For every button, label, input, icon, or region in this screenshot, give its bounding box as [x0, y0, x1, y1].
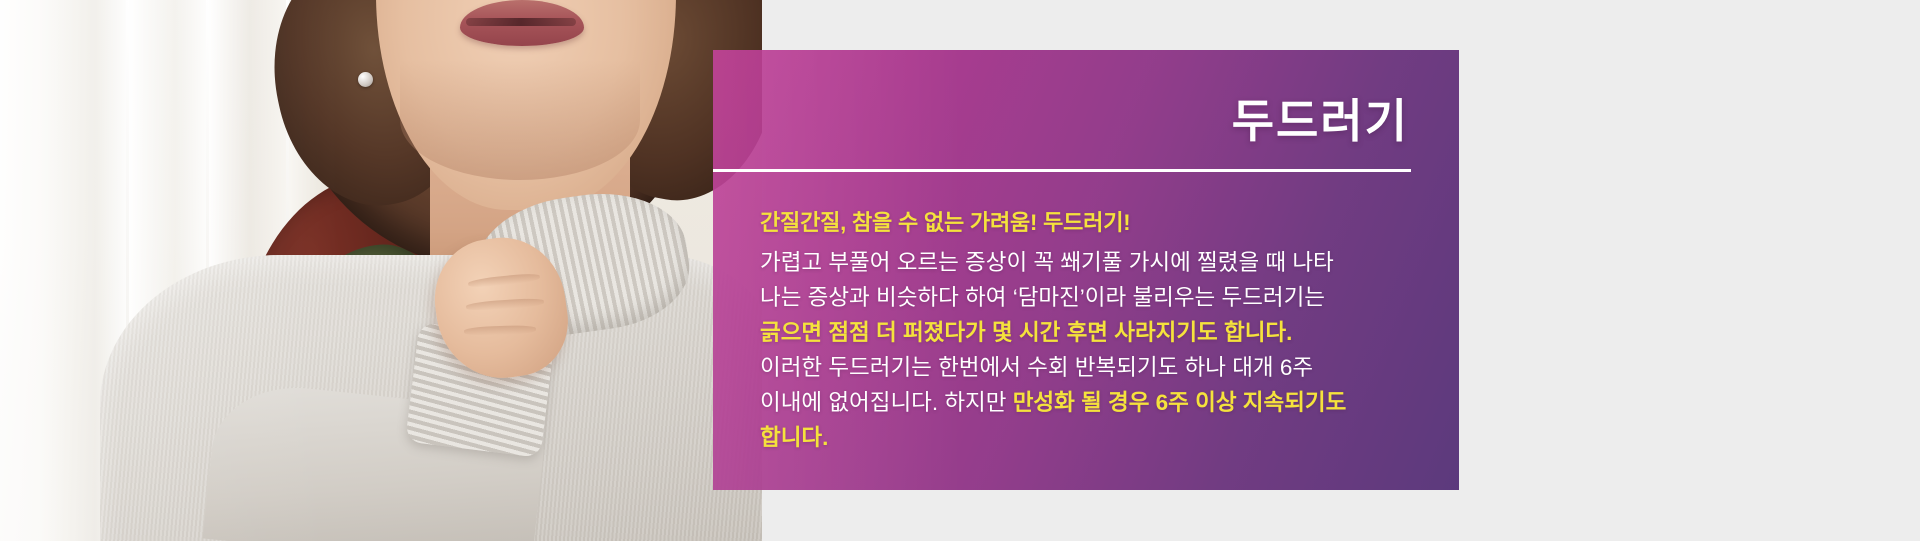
- body-line: 긁으면 점점 더 퍼졌다가 몇 시간 후면 사라지기도 합니다.: [760, 315, 1420, 350]
- body-line: 나는 증상과 비슷하다 하여 ‘담마진’이라 불리우는 두드러기는: [760, 280, 1420, 315]
- body-line: 합니다.: [760, 420, 1420, 455]
- title-divider: [713, 169, 1411, 172]
- panel-body: 간질간질, 참을 수 없는 가려움! 두드러기! 가렵고 부풀어 오르는 증상이…: [760, 205, 1420, 455]
- body-line: 가렵고 부풀어 오르는 증상이 꼭 쐐기풀 가시에 찔렸을 때 나타: [760, 245, 1420, 280]
- info-panel: 두드러기 간질간질, 참을 수 없는 가려움! 두드러기! 가렵고 부풀어 오르…: [713, 50, 1459, 490]
- hero-photo: [0, 0, 762, 541]
- body-line: 이내에 없어집니다. 하지만 만성화 될 경우 6주 이상 지속되기도: [760, 385, 1420, 420]
- panel-title: 두드러기: [1232, 98, 1409, 144]
- body-line: 이러한 두드러기는 한번에서 수회 반복되기도 하나 대개 6주: [760, 350, 1420, 385]
- banner-stage: 두드러기 간질간질, 참을 수 없는 가려움! 두드러기! 가렵고 부풀어 오르…: [0, 0, 1920, 541]
- photo-veil: [0, 0, 762, 541]
- panel-lead: 간질간질, 참을 수 없는 가려움! 두드러기!: [760, 205, 1420, 240]
